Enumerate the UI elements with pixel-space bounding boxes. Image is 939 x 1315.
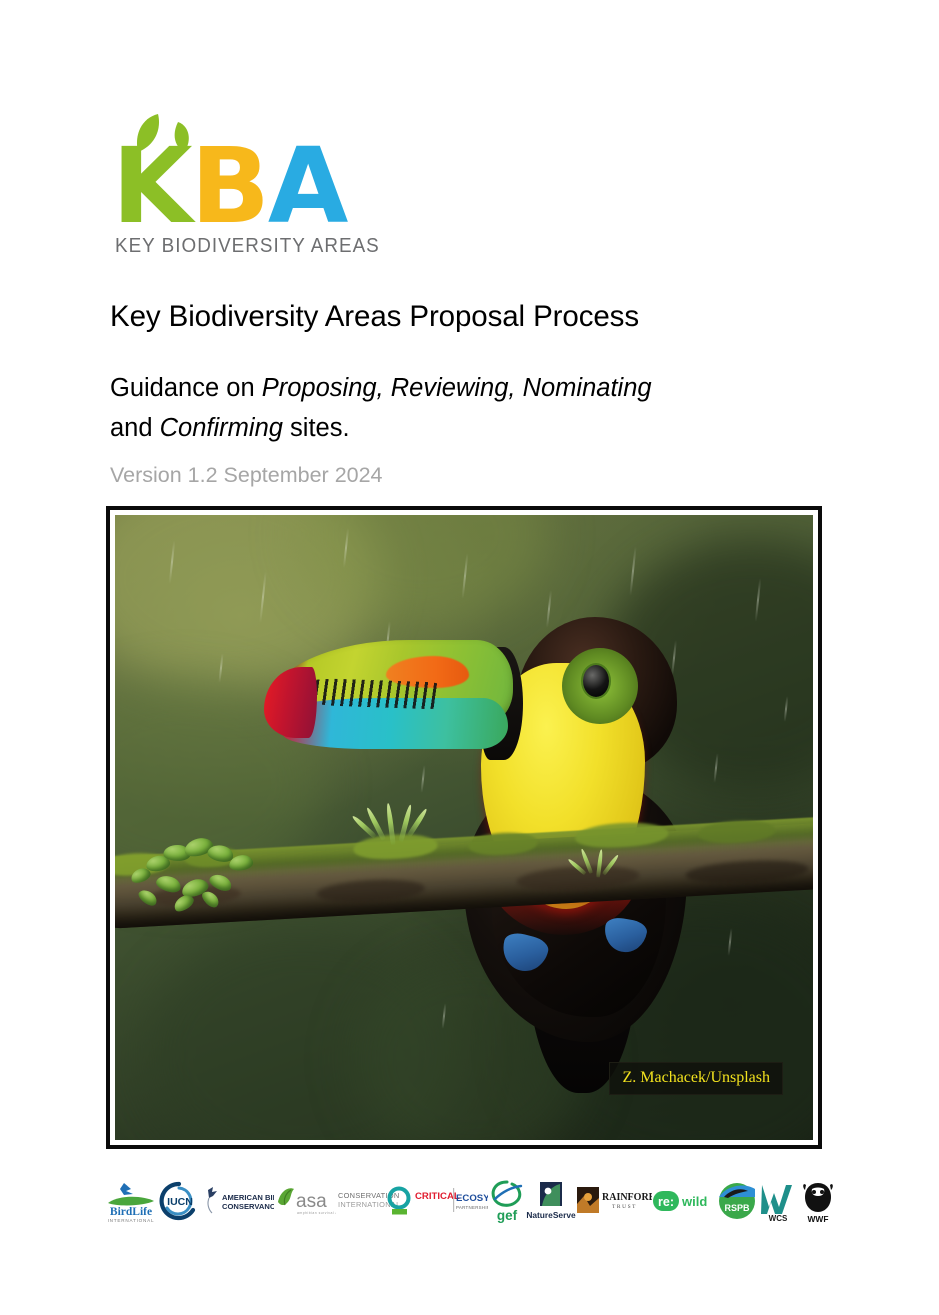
partner-logo-rewild: re: wild: [652, 1176, 716, 1226]
svg-text:INTERNATIONAL: INTERNATIONAL: [108, 1218, 155, 1223]
svg-text:amphibian survival alliance: amphibian survival alliance: [297, 1211, 336, 1215]
svg-text:re:: re:: [658, 1195, 674, 1209]
toucan-beak: [269, 640, 513, 763]
logo-letters: KBA: [112, 140, 357, 232]
svg-text:BirdLife: BirdLife: [110, 1206, 152, 1218]
subtitle-word: on: [226, 374, 254, 402]
svg-text:ECOSYSTEM: ECOSYSTEM: [456, 1193, 488, 1204]
cover-photo-frame: Z. Machacek/Unsplash: [106, 506, 822, 1149]
svg-text:NatureServe: NatureServe: [526, 1210, 576, 1220]
svg-text:AMERICAN BIRD: AMERICAN BIRD: [222, 1193, 274, 1202]
subtitle-word-italic: Proposing,: [262, 374, 384, 402]
svg-text:WCS: WCS: [769, 1214, 788, 1222]
subtitle-word-italic: Reviewing,: [391, 374, 516, 402]
partner-logo-abc: AMERICAN BIRD CONSERVANCY: [200, 1176, 274, 1226]
partner-logo-birdlife: BirdLife INTERNATIONAL: [104, 1176, 158, 1226]
logo-letter-a: A: [268, 125, 347, 247]
wcs-icon: WCS: [758, 1180, 798, 1222]
gef-icon: gef: [488, 1179, 526, 1223]
svg-text:asa: asa: [296, 1191, 327, 1212]
conservation-international-icon: CONSERVATION INTERNATIONAL: [336, 1184, 414, 1218]
wwf-panda-icon: WWF: [798, 1179, 838, 1223]
logo-letter-b: B: [191, 125, 268, 247]
partner-logo-rainforest-trust: RAINFOREST TRUST: [576, 1176, 652, 1226]
toucan-eye: [583, 665, 609, 697]
asa-icon: asa amphibian survival alliance: [274, 1184, 336, 1218]
subtitle-word: Guidance: [110, 374, 219, 402]
version-label: Version 1.2 September 2024: [110, 463, 383, 488]
svg-text:IUCN: IUCN: [167, 1196, 193, 1208]
subtitle-last-line: and Confirming sites.: [110, 408, 832, 448]
page-title: Key Biodiversity Areas Proposal Process: [110, 300, 840, 334]
epiphyte-cluster: [115, 824, 349, 923]
svg-text:WWF: WWF: [808, 1214, 829, 1223]
rewild-icon: re: wild: [652, 1187, 716, 1215]
subtitle-word: sites.: [290, 414, 350, 442]
partner-logo-wwf: WWF: [798, 1176, 838, 1226]
svg-text:wild: wild: [681, 1194, 707, 1209]
natureserve-icon: NatureServe: [526, 1180, 576, 1222]
document-cover-page: KBA KEY BIODIVERSITY AREAS Key Biodivers…: [0, 0, 939, 1315]
birdlife-icon: BirdLife INTERNATIONAL: [104, 1179, 158, 1223]
logo-letter-k: K: [112, 125, 191, 247]
svg-text:CONSERVANCY: CONSERVANCY: [222, 1202, 274, 1211]
critical-ecosystem-partnership-fund-icon: CRITICAL ECOSYSTEM PARTNERSHIP FUND: [414, 1185, 488, 1217]
svg-text:PARTNERSHIP FUND: PARTNERSHIP FUND: [456, 1205, 488, 1210]
partner-logo-strip: BirdLife INTERNATIONAL IUCN AMERICAN BIR…: [104, 1172, 834, 1230]
bromeliad: [336, 799, 461, 856]
partner-logo-wcs: WCS: [758, 1176, 798, 1226]
logo-subtitle: KEY BIODIVERSITY AREAS: [115, 234, 380, 258]
svg-text:RSPB: RSPB: [724, 1203, 750, 1213]
rspb-icon: RSPB: [716, 1180, 758, 1222]
small-epiphyte: [546, 845, 656, 901]
partner-logo-iucn: IUCN: [158, 1176, 200, 1226]
subtitle-word-italic: Confirming: [160, 414, 283, 442]
svg-text:RAINFOREST: RAINFOREST: [602, 1192, 652, 1203]
partner-logo-conservation-international: CONSERVATION INTERNATIONAL: [336, 1176, 414, 1226]
partner-logo-gef: gef: [488, 1176, 526, 1226]
beak-red-tip: [264, 667, 318, 738]
svg-text:TRUST: TRUST: [612, 1204, 637, 1210]
partner-logo-rspb: RSPB: [716, 1176, 758, 1226]
photo-credit: Z. Machacek/Unsplash: [609, 1062, 783, 1095]
cover-photo: Z. Machacek/Unsplash: [115, 515, 813, 1140]
subtitle-word: and: [110, 414, 153, 442]
rainforest-trust-icon: RAINFOREST TRUST: [576, 1184, 652, 1218]
partner-logo-natureserve: NatureServe: [526, 1176, 576, 1226]
partner-logo-cepf: CRITICAL ECOSYSTEM PARTNERSHIP FUND: [414, 1176, 488, 1226]
svg-text:gef: gef: [497, 1208, 518, 1223]
subtitle-word-italic: Nominating: [523, 374, 652, 402]
page-subtitle: Guidance on Proposing, Reviewing, Nomina…: [110, 368, 832, 448]
kba-logo: KBA KEY BIODIVERSITY AREAS: [112, 112, 372, 262]
american-bird-conservancy-icon: AMERICAN BIRD CONSERVANCY: [200, 1184, 274, 1218]
partner-logo-asa: asa amphibian survival alliance: [274, 1176, 336, 1226]
iucn-icon: IUCN: [158, 1180, 200, 1222]
